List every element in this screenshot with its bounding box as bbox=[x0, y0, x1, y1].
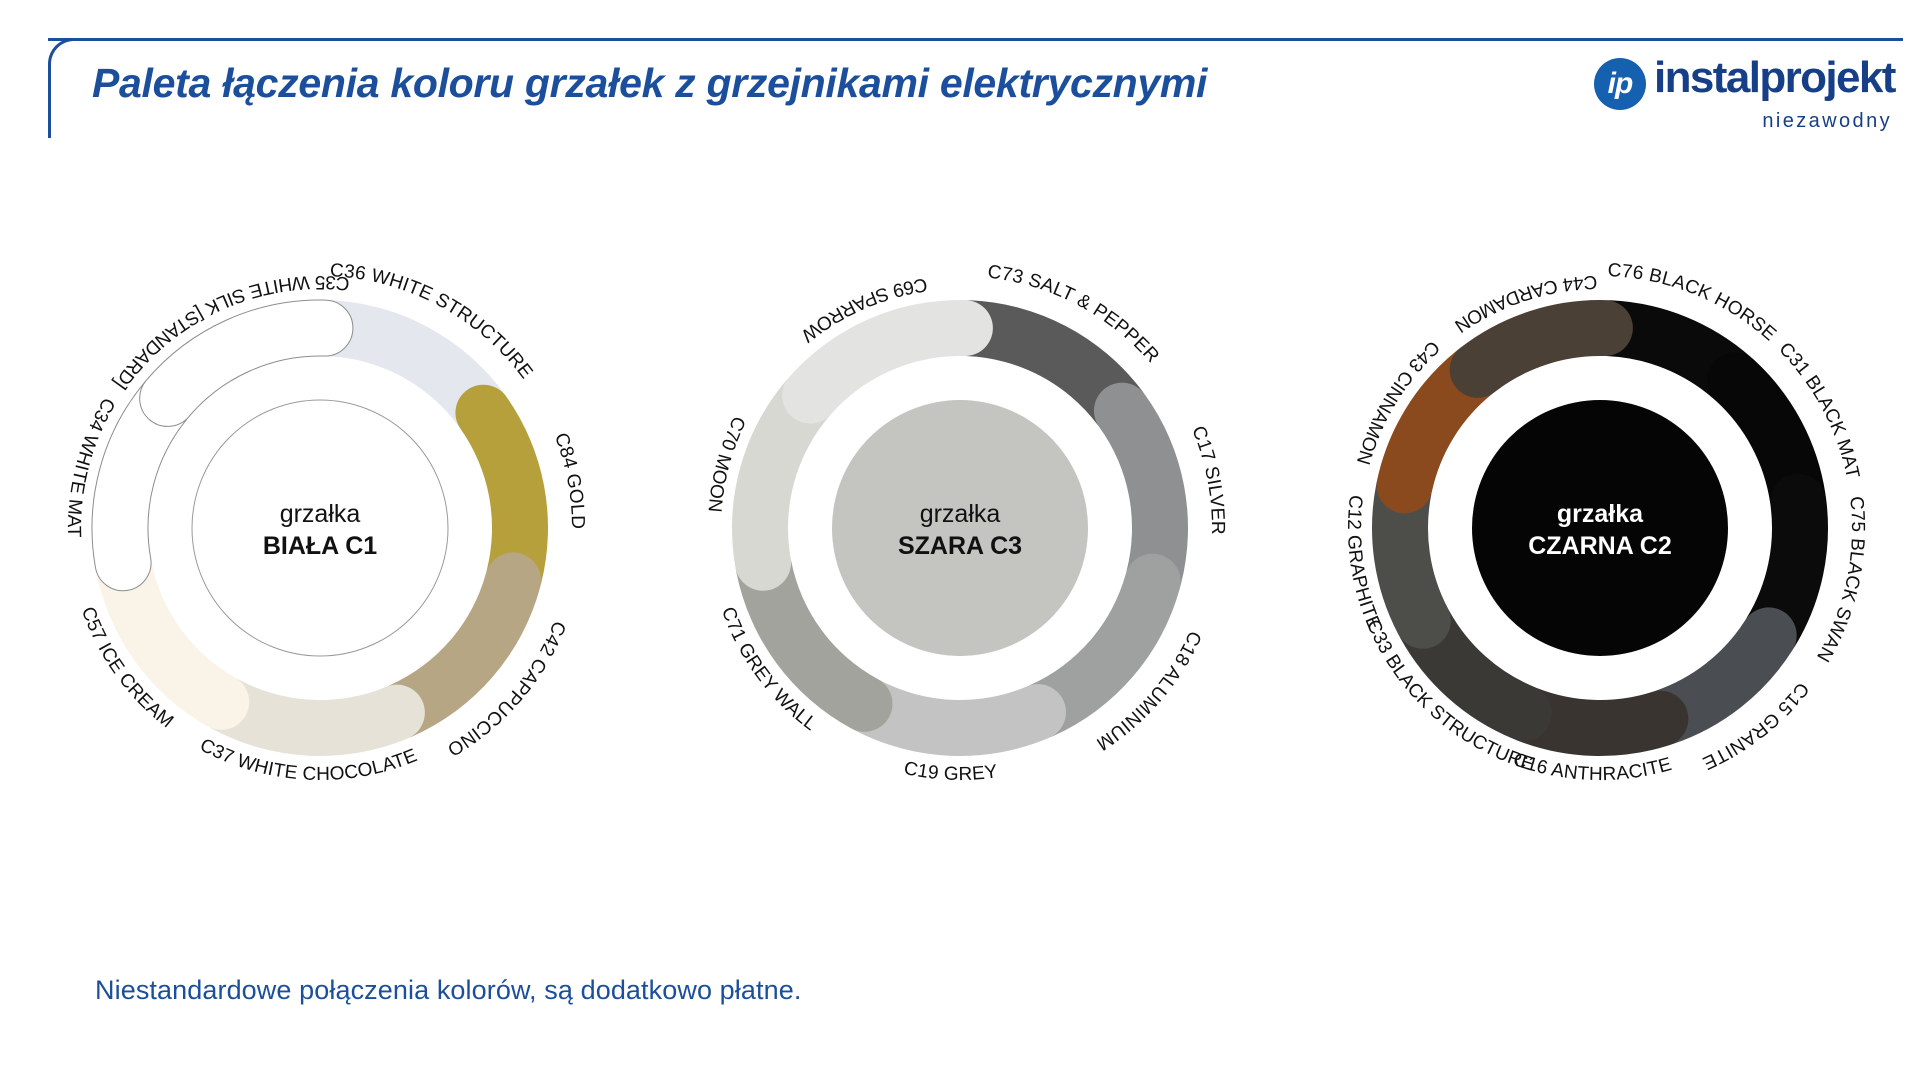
segment-label: C84 GOLD bbox=[550, 430, 588, 529]
footnote-text: Niestandardowe połączenia kolorów, są do… bbox=[95, 975, 801, 1006]
header-top-rule bbox=[48, 38, 1903, 41]
center-label-line2: SZARA C3 bbox=[898, 532, 1022, 560]
donut-center-disc bbox=[192, 400, 448, 656]
center-label-line2: BIAŁA C1 bbox=[263, 532, 377, 560]
page-title: Paleta łączenia koloru grzałek z grzejni… bbox=[92, 60, 1207, 107]
donut-center-disc bbox=[1472, 400, 1728, 656]
center-label-line1: grzałka bbox=[1557, 500, 1644, 528]
brand-logo: ip instalprojekt niezawodny bbox=[1594, 52, 1894, 144]
header-bracket-corner bbox=[48, 38, 82, 138]
logo-tagline: niezawodny bbox=[1762, 110, 1892, 133]
donut-center-disc bbox=[832, 400, 1088, 656]
logo-monogram: ip bbox=[1594, 58, 1646, 110]
logo-wordmark: instalprojekt bbox=[1654, 56, 1895, 100]
center-label-line1: grzałka bbox=[280, 500, 361, 528]
center-label-line1: grzałka bbox=[920, 500, 1001, 528]
center-label-line2: CZARNA C2 bbox=[1528, 532, 1672, 560]
logo-circle-icon: ip bbox=[1594, 58, 1646, 110]
segment-label: C19 GREY bbox=[902, 758, 999, 785]
donut-chart-black: C76 BLACK HORSEC31 BLACK MATC75 BLACK SW… bbox=[1280, 168, 1920, 908]
donut-chart-grey: C73 SALT & PEPPERC17 SILVERC18 ALUMINIUM… bbox=[640, 168, 1280, 908]
donut-chart-white: C36 WHITE STRUCTUREC84 GOLDC42 CAPPUCCIN… bbox=[0, 168, 640, 908]
color-wheel-group: C36 WHITE STRUCTUREC84 GOLDC42 CAPPUCCIN… bbox=[0, 168, 1920, 908]
page-header: Paleta łączenia koloru grzałek z grzejni… bbox=[0, 0, 1920, 160]
segment-label: C17 SILVER bbox=[1187, 423, 1228, 535]
